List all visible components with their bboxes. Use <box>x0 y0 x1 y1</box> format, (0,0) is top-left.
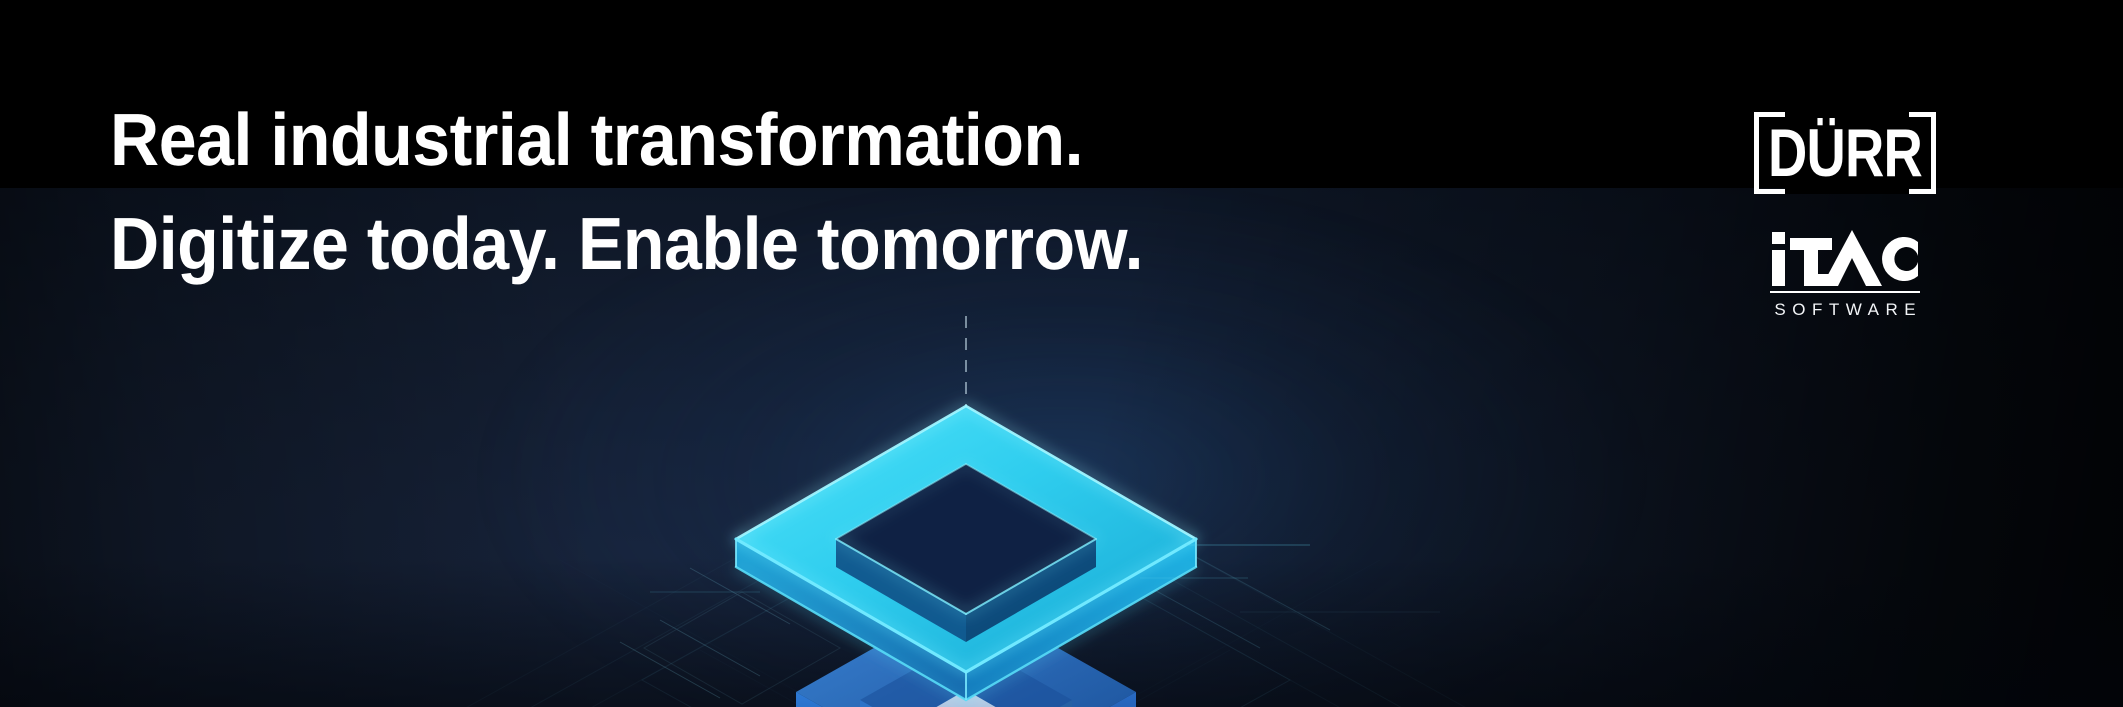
durr-logo: DÜRR <box>1754 112 1936 194</box>
itac-logo: SOFTWARE <box>1754 230 1936 319</box>
headline-line-1: Real industrial transformation. <box>110 88 1143 192</box>
headline-line-2: Digitize today. Enable tomorrow. <box>110 192 1143 296</box>
logo-lockup: DÜRR SOFTWARE <box>1754 112 1938 319</box>
itac-divider-rule <box>1770 291 1920 293</box>
headline: Real industrial transformation. Digitize… <box>110 88 1143 296</box>
itac-tagline: SOFTWARE <box>1754 300 1936 319</box>
itac-wordmark-icon <box>1770 230 1920 286</box>
durr-wordmark: DÜRR <box>1768 119 1922 187</box>
banner-root: Real industrial transformation. Digitize… <box>0 0 2123 707</box>
